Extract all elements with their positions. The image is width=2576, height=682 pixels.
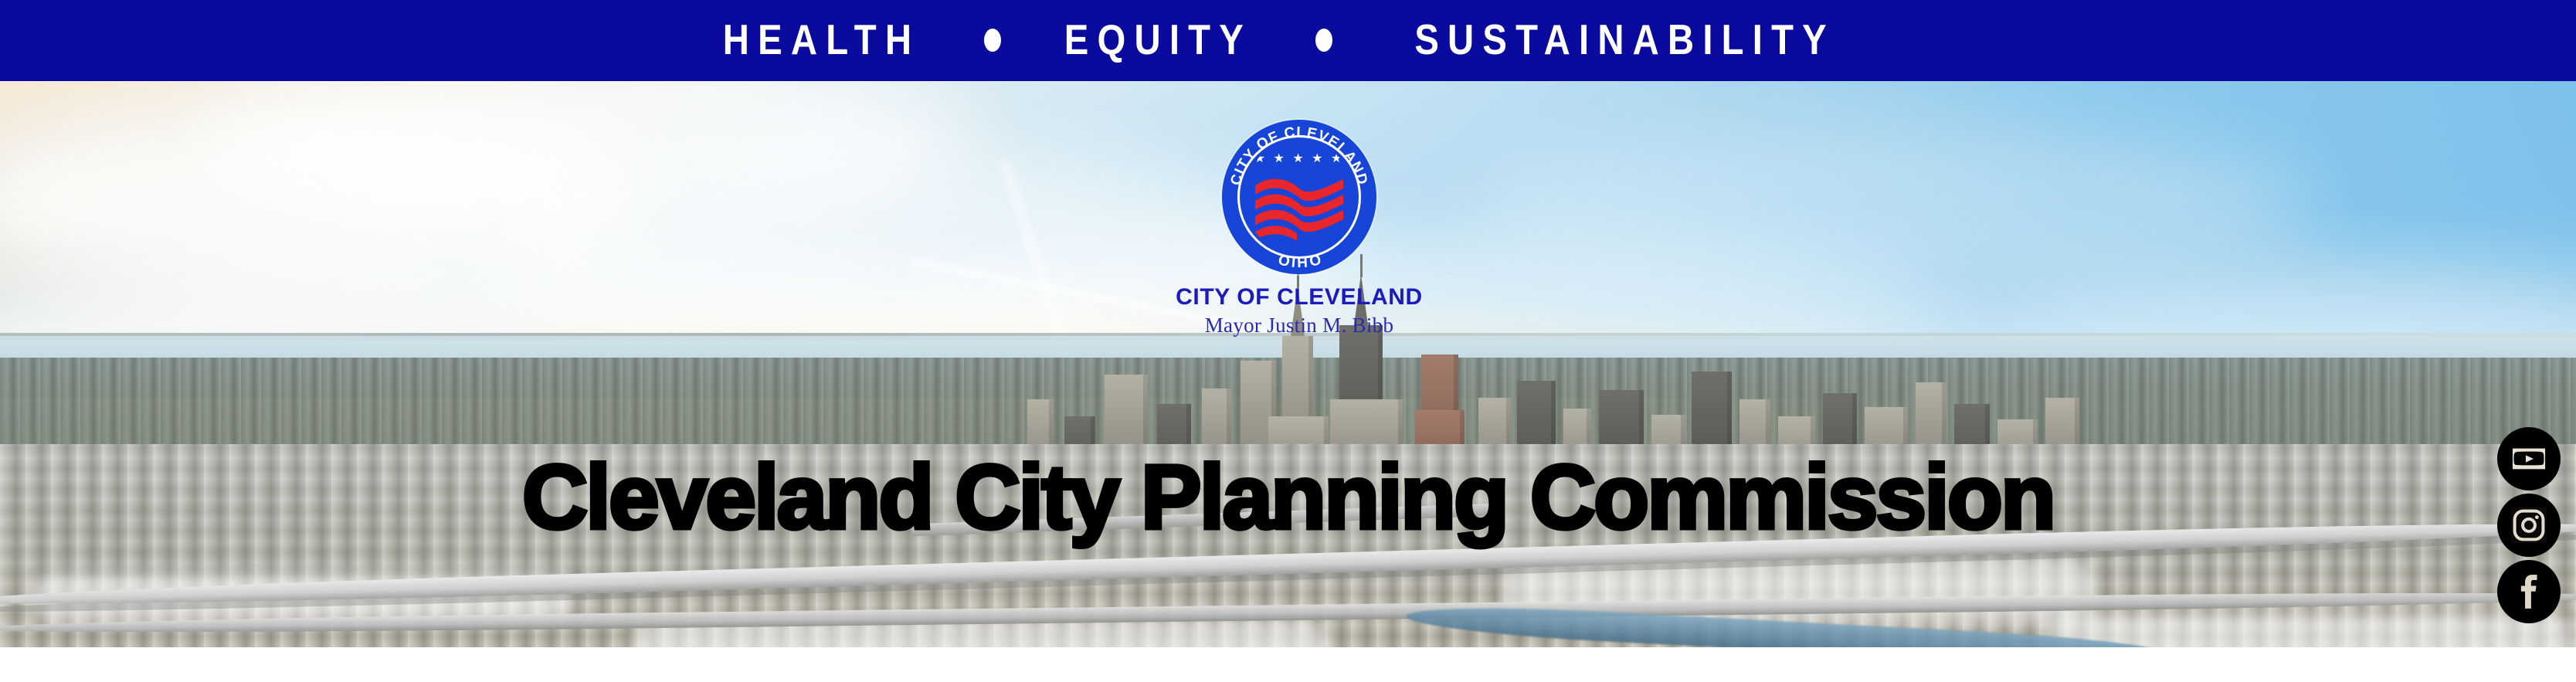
tagline-word-equity: EQUITY: [1064, 19, 1252, 61]
snow-patch: [2047, 614, 2572, 647]
logo-subtitle: Mayor Justin M. Bibb: [1149, 314, 1450, 336]
dot-separator-icon: [1315, 29, 1332, 52]
seal-flag-icon: [1243, 141, 1356, 253]
tagline-row: HEALTH EQUITY SUSTAINABILITY: [707, 19, 1869, 61]
page-root: HEALTH EQUITY SUSTAINABILITY: [0, 0, 2576, 682]
facebook-icon[interactable]: [2497, 560, 2561, 623]
instagram-icon[interactable]: [2497, 494, 2561, 557]
tagline-word-sustainability: SUSTAINABILITY: [1414, 19, 1835, 61]
city-logo-block: CITY OF CLEVELAND OHIO ★ ★ ★ ★ ★: [1149, 120, 1450, 336]
tagline-word-health: HEALTH: [723, 19, 920, 61]
city-of-cleveland-seal-icon: CITY OF CLEVELAND OHIO ★ ★ ★ ★ ★: [1222, 120, 1376, 274]
logo-title: CITY OF CLEVELAND: [1149, 285, 1450, 310]
social-links: [2497, 427, 2561, 623]
dot-separator-icon: [984, 29, 1001, 52]
tagline-banner: HEALTH EQUITY SUSTAINABILITY: [0, 0, 2576, 81]
seal-inner-disc: ★ ★ ★ ★ ★: [1243, 141, 1356, 253]
youtube-icon[interactable]: [2497, 427, 2561, 490]
footer-strip: [0, 647, 2576, 682]
